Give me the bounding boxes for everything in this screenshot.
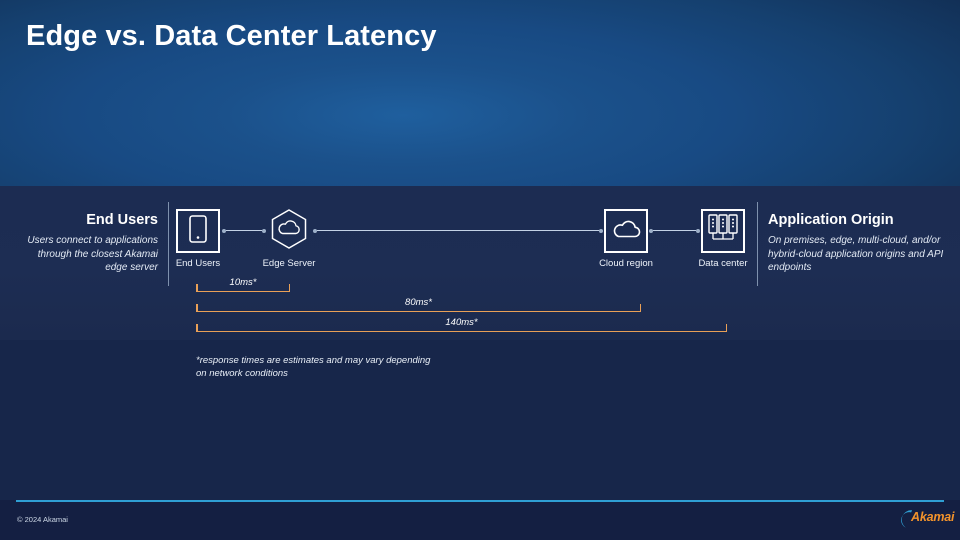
end-users-icon-frame <box>176 209 220 253</box>
footer-divider <box>16 500 944 502</box>
connector-cap-right <box>262 229 266 233</box>
left-divider <box>168 202 169 286</box>
mobile-phone-icon <box>189 215 207 248</box>
latency-bracket-80ms-label: 80ms* <box>196 297 641 308</box>
application-origin-heading: Application Origin <box>768 212 948 228</box>
latency-bracket-140ms-label: 140ms* <box>196 317 727 328</box>
akamai-logo-text: Akamai <box>911 510 954 524</box>
connector-line <box>226 230 262 231</box>
copyright-text: © 2024 Akamai <box>17 515 68 524</box>
application-origin-description-block: Application Origin On premises, edge, mu… <box>768 212 948 275</box>
background-footer-band <box>0 500 960 540</box>
bracket-tick-left <box>196 324 198 332</box>
bracket-bar <box>196 331 727 333</box>
cloud-region-icon-frame <box>604 209 648 253</box>
latency-bracket-80ms: 80ms* <box>196 300 641 312</box>
diagram-node-cloud-region[interactable]: Cloud region <box>604 209 657 270</box>
edge-server-node-label: Edge Server <box>257 258 321 270</box>
connector-end-users-to-edge-server <box>222 227 266 234</box>
bracket-bar <box>196 311 641 313</box>
data-center-node-label: Data center <box>685 258 761 270</box>
data-center-icon-frame <box>701 209 745 253</box>
server-rack-icon <box>706 212 740 251</box>
connector-cloud-region-to-data-center <box>649 227 700 234</box>
cloud-icon <box>610 217 642 246</box>
application-origin-body: On premises, edge, multi-cloud, and/or h… <box>768 234 948 275</box>
slide-canvas: Edge vs. Data Center Latency End Users U… <box>0 0 960 540</box>
bracket-tick-right <box>640 304 642 312</box>
hexagon-cloud-icon <box>268 208 310 255</box>
page-title: Edge vs. Data Center Latency <box>26 20 437 53</box>
bracket-tick-right <box>289 284 291 292</box>
bracket-bar <box>196 291 290 293</box>
connector-line <box>317 230 599 231</box>
connector-cap-right <box>599 229 603 233</box>
bracket-tick-left <box>196 284 198 292</box>
end-users-body: Users connect to applications through th… <box>20 234 158 275</box>
latency-bracket-10ms: 10ms* <box>196 280 290 292</box>
end-users-node-label: End Users <box>167 258 229 270</box>
connector-cap-right <box>696 229 700 233</box>
end-users-description-block: End Users Users connect to applications … <box>20 212 158 275</box>
akamai-logo: Akamai <box>898 508 950 530</box>
diagram-node-end-users[interactable]: End Users <box>176 209 229 270</box>
latency-bracket-140ms: 140ms* <box>196 320 727 332</box>
diagram-node-data-center[interactable]: Data center <box>701 209 761 270</box>
latency-bracket-10ms-label: 10ms* <box>196 277 290 288</box>
cloud-region-node-label: Cloud region <box>595 258 657 270</box>
connector-edge-server-to-cloud-region <box>313 227 603 234</box>
diagram-node-edge-server[interactable]: Edge Server <box>267 209 321 270</box>
bracket-tick-left <box>196 304 198 312</box>
latency-footnote: *response times are estimates and may va… <box>196 354 436 380</box>
bracket-tick-right <box>726 324 728 332</box>
edge-server-icon-frame <box>267 209 311 253</box>
end-users-heading: End Users <box>20 212 158 228</box>
connector-line <box>653 230 696 231</box>
